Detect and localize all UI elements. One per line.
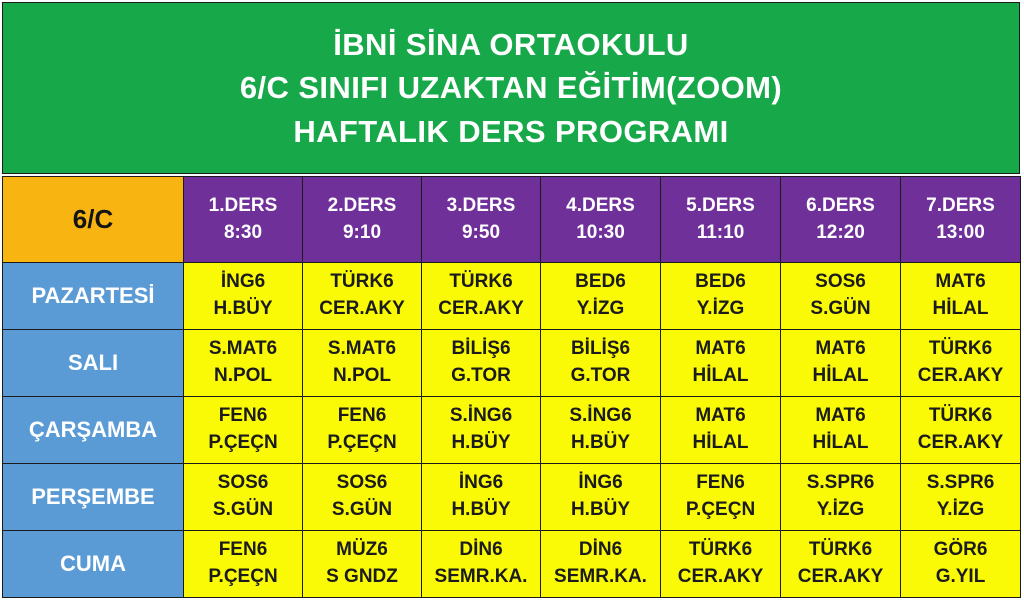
period-name: 3.DERS [422,193,540,220]
lesson-cell-r4-c2: SOS6S.GÜN [303,464,422,531]
lesson-teacher: H.BÜY [422,430,540,457]
lesson-cell-r1-c1: İNG6H.BÜY [184,263,303,330]
lesson-teacher: Y.İZG [661,296,780,323]
period-name: 4.DERS [541,193,660,220]
lesson-cell-r2-c4: BİLİŞ6G.TOR [541,330,661,397]
school-title-banner: İBNİ SİNA ORTAOKULU 6/C SINIFI UZAKTAN E… [2,2,1020,174]
lesson-cell-r2-c3: BİLİŞ6G.TOR [422,330,541,397]
lesson-teacher: Y.İZG [781,497,900,524]
lesson-teacher: P.ÇEÇN [661,497,780,524]
period-time: 9:50 [422,220,540,247]
lesson-code: MAT6 [901,269,1020,296]
lesson-teacher: H.BÜY [184,296,302,323]
lesson-code: MAT6 [661,336,780,363]
lesson-code: TÜRK6 [901,403,1020,430]
lesson-cell-r5-c2: MÜZ6S GNDZ [303,531,422,598]
lesson-cell-r3-c7: TÜRK6CER.AKY [901,397,1021,464]
period-header-5: 5.DERS11:10 [661,177,781,263]
lesson-code: BİLİŞ6 [541,336,660,363]
lesson-code: S.İNG6 [541,403,660,430]
lesson-teacher: CER.AKY [661,564,780,591]
period-time: 13:00 [901,220,1020,247]
day-label-1: PAZARTESİ [3,263,184,330]
lesson-cell-r3-c3: S.İNG6H.BÜY [422,397,541,464]
lesson-code: FEN6 [184,403,302,430]
lesson-code: FEN6 [661,470,780,497]
lesson-code: TÜRK6 [422,269,540,296]
period-time: 11:10 [661,220,780,247]
lesson-cell-r1-c7: MAT6HİLAL [901,263,1021,330]
lesson-teacher: HİLAL [901,296,1020,323]
lesson-teacher: CER.AKY [781,564,900,591]
period-time: 8:30 [184,220,302,247]
lesson-code: BED6 [541,269,660,296]
lesson-code: İNG6 [422,470,540,497]
lesson-cell-r3-c5: MAT6HİLAL [661,397,781,464]
lesson-cell-r4-c4: İNG6H.BÜY [541,464,661,531]
day-label-4: PERŞEMBE [3,464,184,531]
lesson-code: BİLİŞ6 [422,336,540,363]
lesson-teacher: S.GÜN [184,497,302,524]
banner-line-subtitle: HAFTALIK DERS PROGRAMI [293,111,728,153]
table-row: ÇARŞAMBAFEN6P.ÇEÇNFEN6P.ÇEÇNS.İNG6H.BÜYS… [3,397,1021,464]
lesson-teacher: HİLAL [781,430,900,457]
lesson-teacher: SEMR.KA. [422,564,540,591]
lesson-cell-r2-c6: MAT6HİLAL [781,330,901,397]
table-header-row: 6/C1.DERS8:302.DERS9:103.DERS9:504.DERS1… [3,177,1021,263]
period-header-3: 3.DERS9:50 [422,177,541,263]
lesson-cell-r2-c7: TÜRK6CER.AKY [901,330,1021,397]
lesson-teacher: G.TOR [422,363,540,390]
day-label-2: SALI [3,330,184,397]
lesson-code: MAT6 [781,336,900,363]
lesson-code: FEN6 [184,537,302,564]
lesson-cell-r4-c7: S.SPR6Y.İZG [901,464,1021,531]
table-row: CUMAFEN6P.ÇEÇNMÜZ6S GNDZDİN6SEMR.KA.DİN6… [3,531,1021,598]
banner-line-school: İBNİ SİNA ORTAOKULU [333,24,688,66]
lesson-cell-r1-c5: BED6Y.İZG [661,263,781,330]
period-name: 1.DERS [184,193,302,220]
lesson-teacher: H.BÜY [422,497,540,524]
lesson-teacher: S.GÜN [303,497,421,524]
lesson-teacher: N.POL [303,363,421,390]
lesson-cell-r5-c5: TÜRK6CER.AKY [661,531,781,598]
lesson-cell-r1-c4: BED6Y.İZG [541,263,661,330]
period-time: 9:10 [303,220,421,247]
lesson-teacher: HİLAL [661,363,780,390]
schedule-sheet: İBNİ SİNA ORTAOKULU 6/C SINIFI UZAKTAN E… [0,0,1024,604]
lesson-cell-r4-c6: S.SPR6Y.İZG [781,464,901,531]
day-label-5: CUMA [3,531,184,598]
lesson-teacher: S GNDZ [303,564,421,591]
lesson-code: SOS6 [184,470,302,497]
lesson-code: TÜRK6 [303,269,421,296]
lesson-code: S.MAT6 [303,336,421,363]
lesson-teacher: CER.AKY [901,430,1020,457]
period-header-6: 6.DERS12:20 [781,177,901,263]
period-header-7: 7.DERS13:00 [901,177,1021,263]
lesson-cell-r5-c4: DİN6SEMR.KA. [541,531,661,598]
lesson-teacher: CER.AKY [901,363,1020,390]
lesson-cell-r4-c1: SOS6S.GÜN [184,464,303,531]
lesson-cell-r1-c3: TÜRK6CER.AKY [422,263,541,330]
lesson-code: S.SPR6 [901,470,1020,497]
lesson-code: DİN6 [541,537,660,564]
lesson-code: BED6 [661,269,780,296]
lesson-code: TÜRK6 [661,537,780,564]
lesson-teacher: S.GÜN [781,296,900,323]
lesson-code: S.İNG6 [422,403,540,430]
lesson-teacher: Y.İZG [541,296,660,323]
lesson-teacher: CER.AKY [422,296,540,323]
banner-line-class: 6/C SINIFI UZAKTAN EĞİTİM(ZOOM) [240,67,782,109]
period-header-4: 4.DERS10:30 [541,177,661,263]
lesson-cell-r2-c1: S.MAT6N.POL [184,330,303,397]
period-header-2: 2.DERS9:10 [303,177,422,263]
lesson-cell-r5-c1: FEN6P.ÇEÇN [184,531,303,598]
lesson-teacher: HİLAL [661,430,780,457]
lesson-teacher: G.TOR [541,363,660,390]
lesson-code: DİN6 [422,537,540,564]
lesson-teacher: CER.AKY [303,296,421,323]
lesson-cell-r1-c6: SOS6S.GÜN [781,263,901,330]
period-time: 12:20 [781,220,900,247]
weekly-schedule-table: 6/C1.DERS8:302.DERS9:103.DERS9:504.DERS1… [2,176,1021,598]
lesson-teacher: G.YIL [901,564,1020,591]
corner-class-label: 6/C [3,177,184,263]
period-header-1: 1.DERS8:30 [184,177,303,263]
lesson-cell-r5-c7: GÖR6G.YIL [901,531,1021,598]
lesson-teacher: HİLAL [781,363,900,390]
lesson-code: SOS6 [303,470,421,497]
day-label-3: ÇARŞAMBA [3,397,184,464]
table-row: PAZARTESİİNG6H.BÜYTÜRK6CER.AKYTÜRK6CER.A… [3,263,1021,330]
lesson-teacher: Y.İZG [901,497,1020,524]
lesson-teacher: P.ÇEÇN [303,430,421,457]
period-name: 6.DERS [781,193,900,220]
lesson-teacher: H.BÜY [541,497,660,524]
lesson-cell-r3-c4: S.İNG6H.BÜY [541,397,661,464]
lesson-cell-r3-c1: FEN6P.ÇEÇN [184,397,303,464]
lesson-code: SOS6 [781,269,900,296]
lesson-code: TÜRK6 [901,336,1020,363]
lesson-cell-r1-c2: TÜRK6CER.AKY [303,263,422,330]
lesson-teacher: SEMR.KA. [541,564,660,591]
lesson-teacher: P.ÇEÇN [184,430,302,457]
period-name: 5.DERS [661,193,780,220]
lesson-cell-r5-c6: TÜRK6CER.AKY [781,531,901,598]
lesson-code: MAT6 [781,403,900,430]
lesson-code: S.MAT6 [184,336,302,363]
lesson-cell-r4-c3: İNG6H.BÜY [422,464,541,531]
lesson-code: İNG6 [184,269,302,296]
lesson-cell-r2-c2: S.MAT6N.POL [303,330,422,397]
lesson-code: S.SPR6 [781,470,900,497]
table-row: SALIS.MAT6N.POLS.MAT6N.POLBİLİŞ6G.TORBİL… [3,330,1021,397]
lesson-teacher: H.BÜY [541,430,660,457]
lesson-code: FEN6 [303,403,421,430]
lesson-cell-r3-c6: MAT6HİLAL [781,397,901,464]
lesson-code: TÜRK6 [781,537,900,564]
lesson-code: MÜZ6 [303,537,421,564]
period-time: 10:30 [541,220,660,247]
lesson-code: GÖR6 [901,537,1020,564]
lesson-cell-r4-c5: FEN6P.ÇEÇN [661,464,781,531]
lesson-code: MAT6 [661,403,780,430]
lesson-cell-r5-c3: DİN6SEMR.KA. [422,531,541,598]
lesson-cell-r2-c5: MAT6HİLAL [661,330,781,397]
period-name: 7.DERS [901,193,1020,220]
table-row: PERŞEMBESOS6S.GÜNSOS6S.GÜNİNG6H.BÜYİNG6H… [3,464,1021,531]
lesson-code: İNG6 [541,470,660,497]
lesson-cell-r3-c2: FEN6P.ÇEÇN [303,397,422,464]
period-name: 2.DERS [303,193,421,220]
lesson-teacher: N.POL [184,363,302,390]
lesson-teacher: P.ÇEÇN [184,564,302,591]
